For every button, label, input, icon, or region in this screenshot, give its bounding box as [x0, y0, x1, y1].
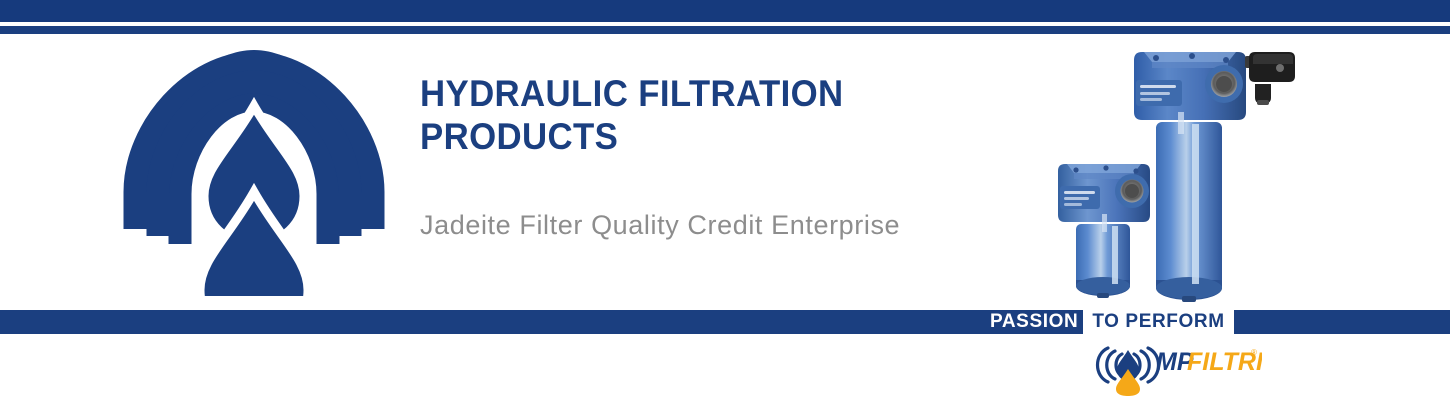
top-rule-thick: [0, 0, 1450, 22]
tagline-to-perform: TO PERFORM: [1083, 310, 1233, 334]
brand-logo: [118, 44, 390, 296]
electrical-connector-icon: [1245, 52, 1295, 105]
top-rule-thin: [0, 26, 1450, 34]
product-photo: [1052, 34, 1308, 310]
tagline: PASSION TO PERFORM: [990, 310, 1234, 334]
large-filter-unit: [1134, 52, 1295, 302]
hydraulic-filtration-banner: HYDRAULIC FILTRATION PRODUCTS Jadeite Fi…: [0, 0, 1450, 400]
tagline-passion: PASSION: [990, 310, 1083, 334]
logo-trademark: ®: [1251, 348, 1257, 357]
subtitle: Jadeite Filter Quality Credit Enterprise: [420, 209, 900, 241]
page-title: HYDRAULIC FILTRATION PRODUCTS: [420, 72, 1003, 158]
mp-filtri-logo: MP FILTRI ®: [1082, 338, 1262, 396]
small-filter-unit: [1058, 164, 1150, 298]
headline-block: HYDRAULIC FILTRATION PRODUCTS: [420, 72, 1040, 158]
